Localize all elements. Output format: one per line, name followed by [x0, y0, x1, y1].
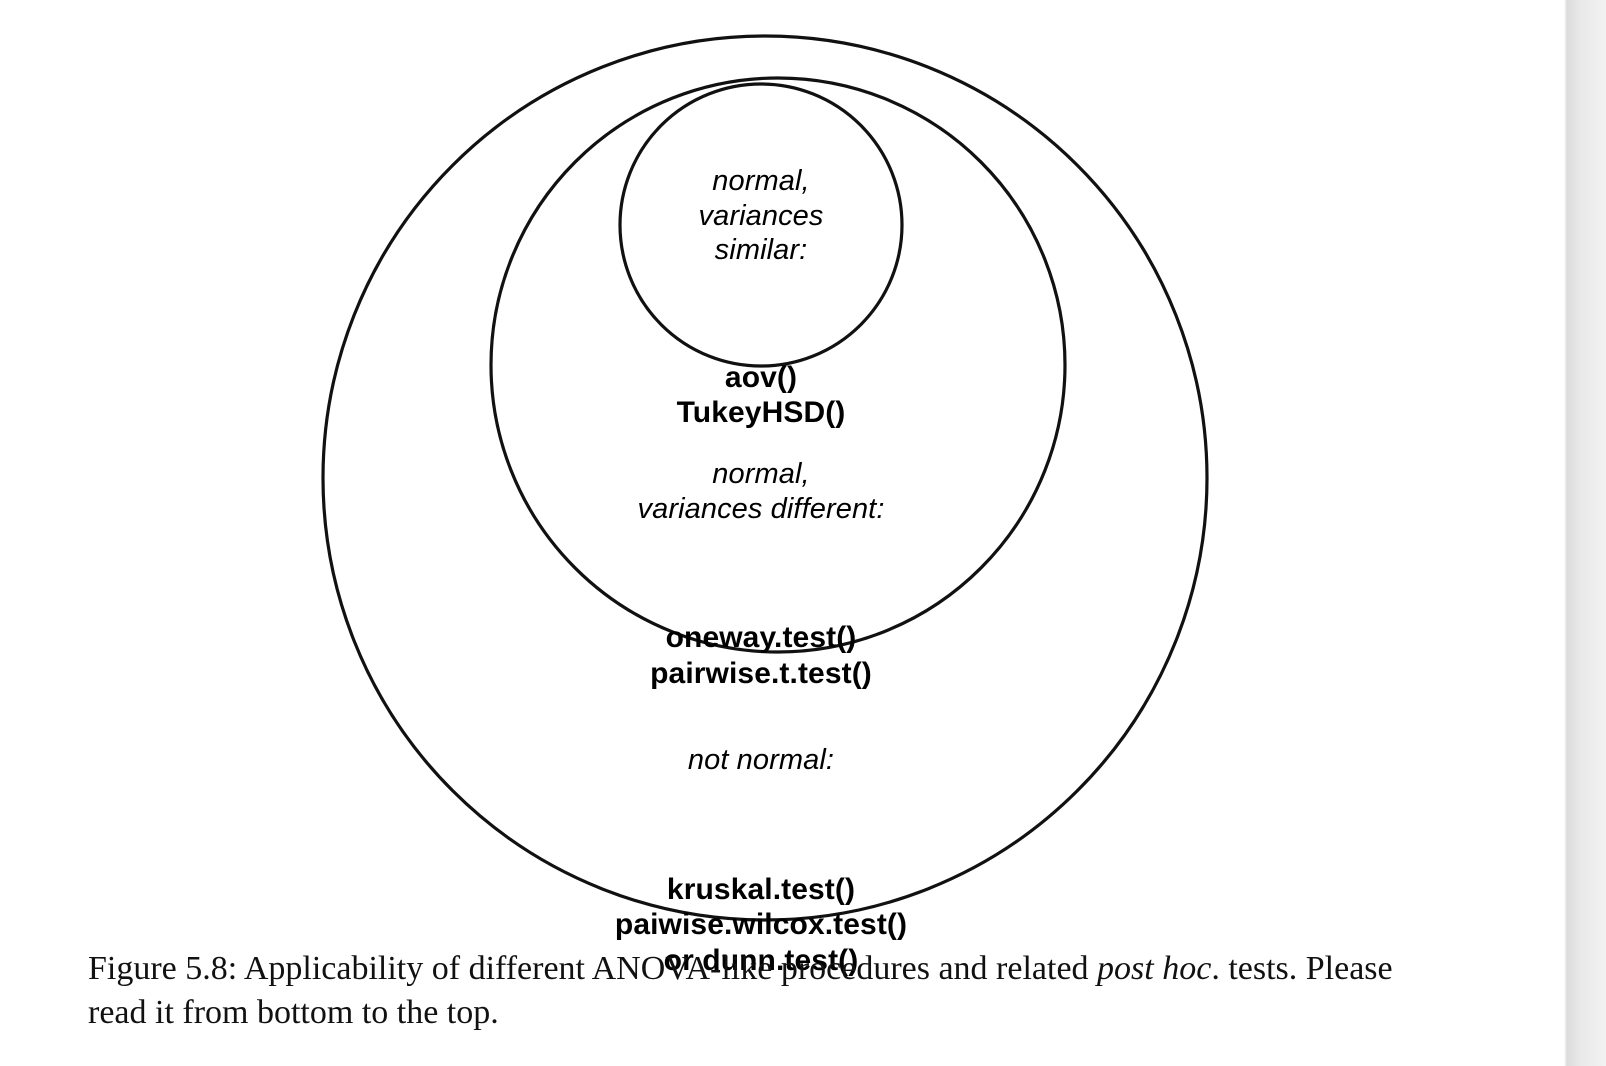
page-edge-shadow	[1558, 0, 1606, 1066]
figure-page: normal, variances similar: aov() TukeyHS…	[0, 0, 1606, 1066]
inner-condition-label: normal, variances similar:	[561, 164, 961, 267]
caption-italic-term: post hoc	[1097, 950, 1211, 987]
middle-condition-label: normal, variances different:	[561, 457, 961, 525]
venn-figure: normal, variances similar: aov() TukeyHS…	[0, 0, 1560, 930]
figure-caption: Figure 5.8: Applicability of different A…	[88, 947, 1448, 1034]
caption-prefix: Figure 5.8: Applicability of different A…	[88, 950, 1097, 987]
outer-condition-label: not normal:	[541, 743, 981, 777]
